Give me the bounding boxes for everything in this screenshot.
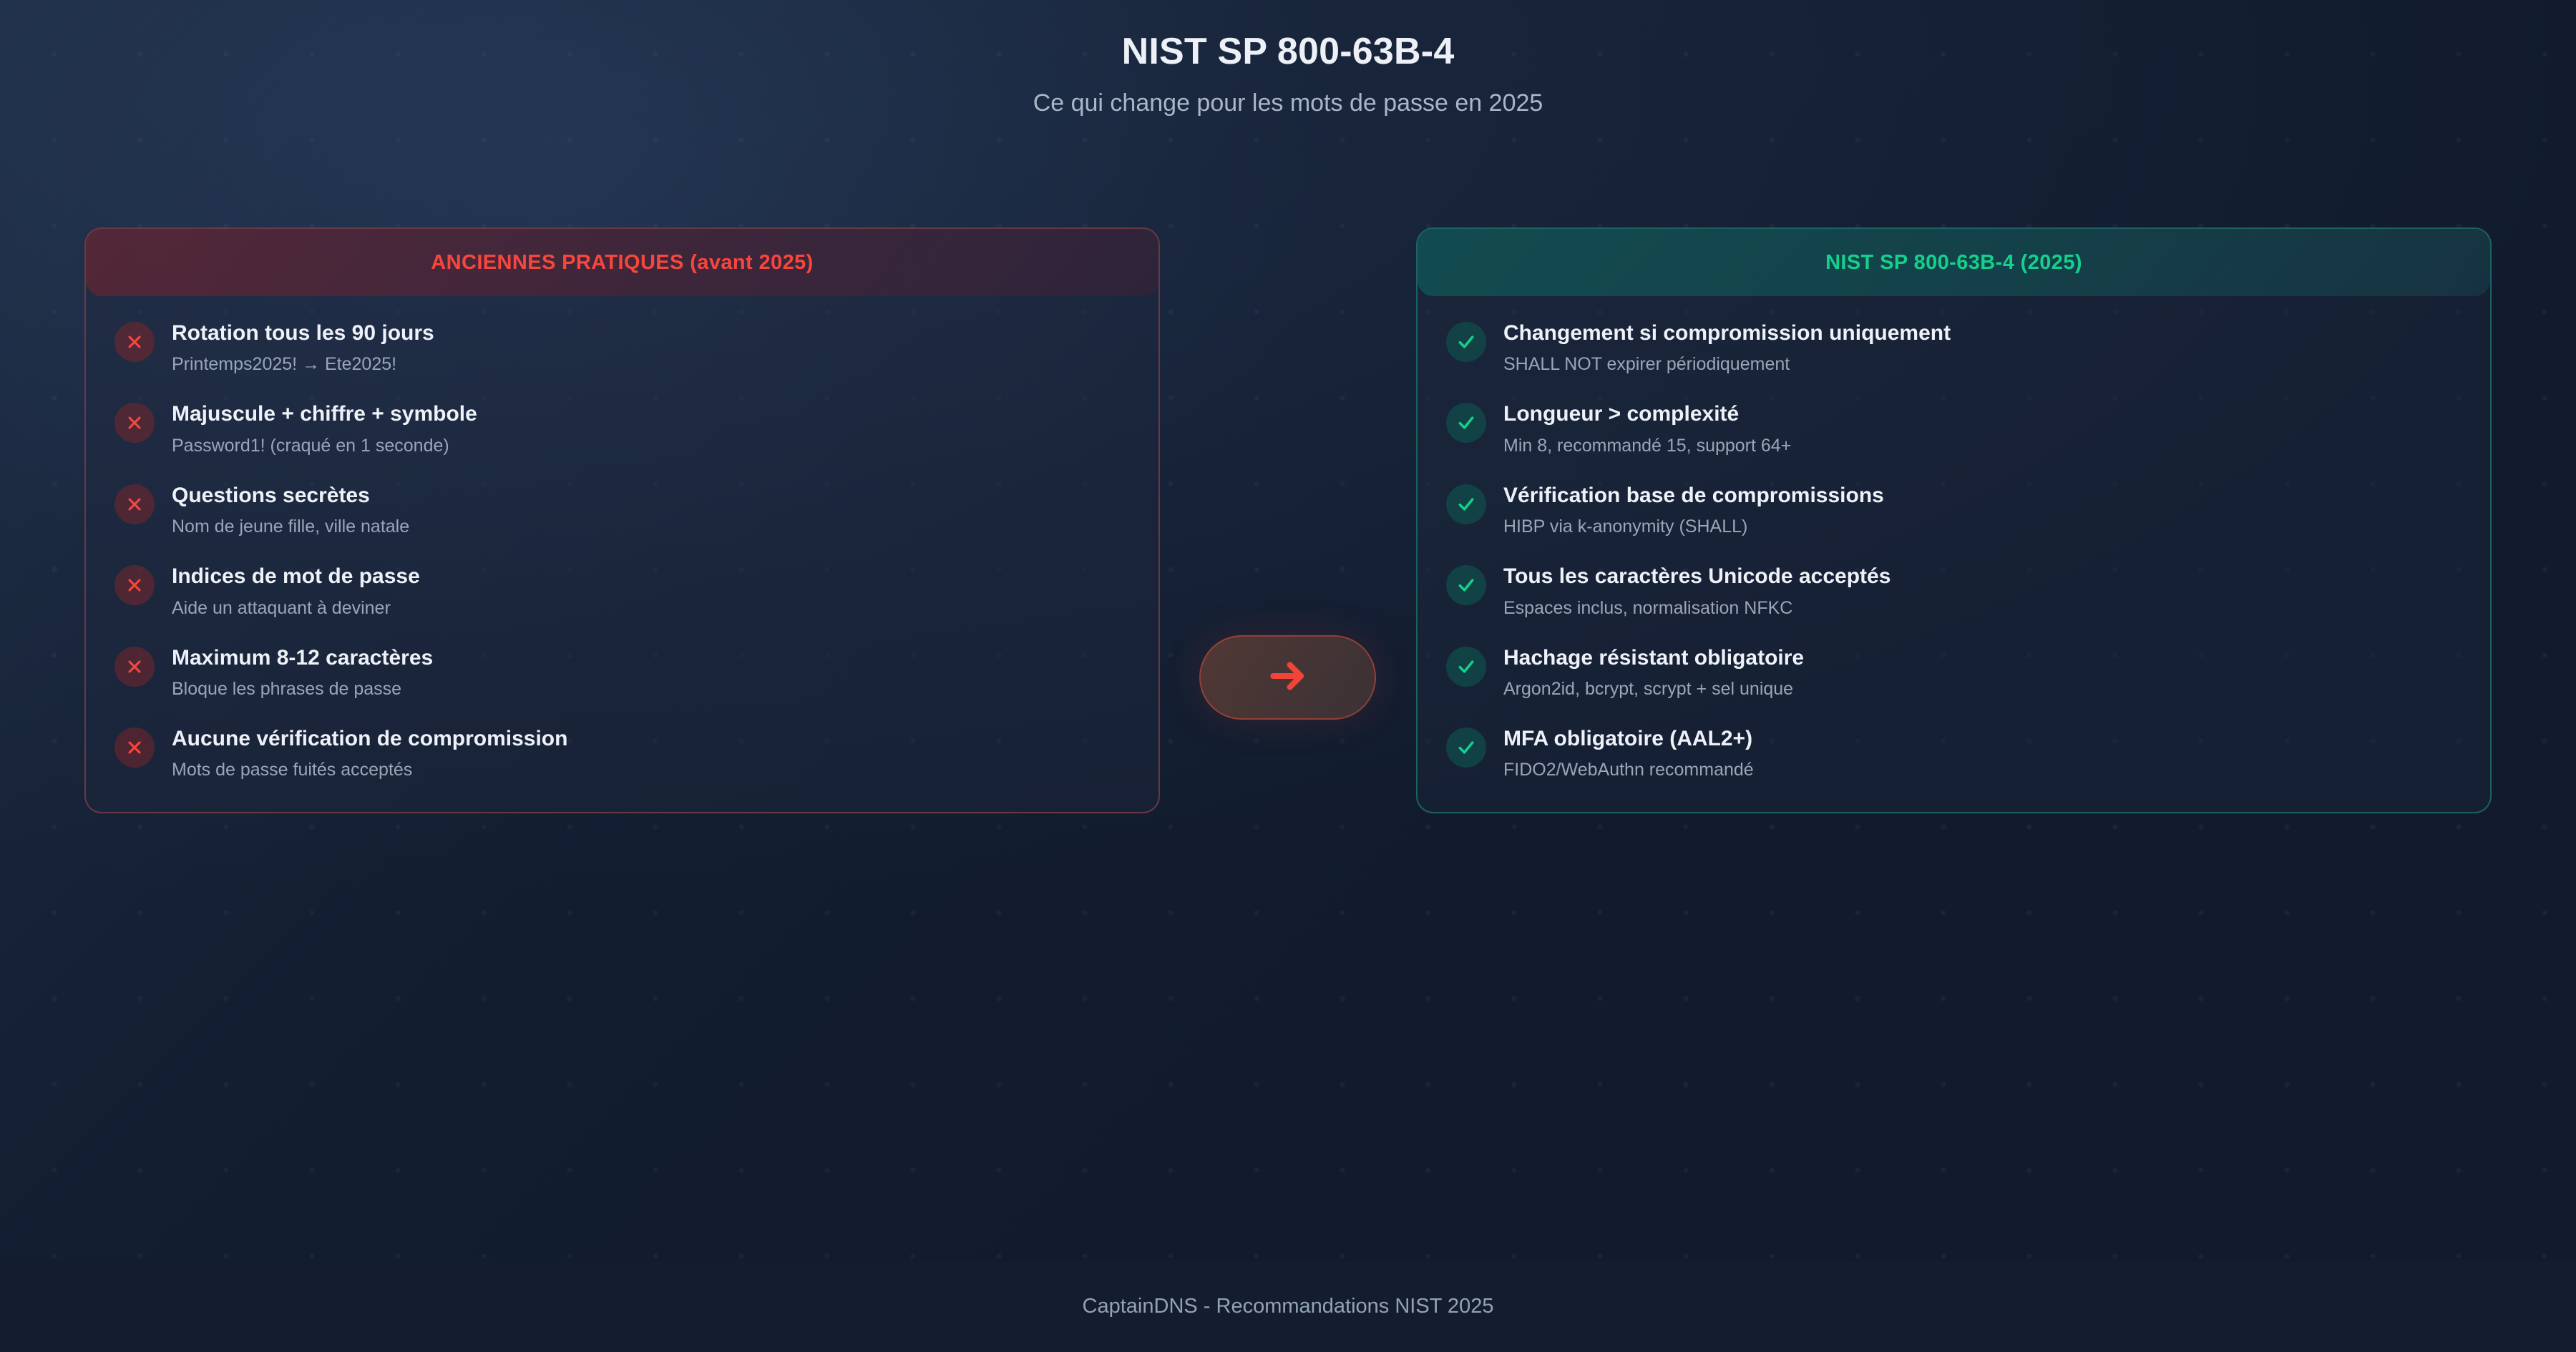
list-item: Vérification base de compromissions HIBP… xyxy=(1446,483,2462,537)
nist-2025-title: NIST SP 800-63B-4 (2025) xyxy=(1825,251,2082,275)
check-icon xyxy=(1446,484,1486,524)
list-item-detail: Mots de passe fuités acceptés xyxy=(172,759,567,780)
old-practices-header: ANCIENNES PRATIQUES (avant 2025) xyxy=(86,229,1158,296)
list-item-detail: Min 8, recommandé 15, support 64+ xyxy=(1503,435,1791,456)
nist-2025-header: NIST SP 800-63B-4 (2025) xyxy=(1418,229,2490,296)
list-item-detail: FIDO2/WebAuthn recommandé xyxy=(1503,759,1754,780)
check-icon xyxy=(1446,728,1486,768)
list-item-text: Rotation tous les 90 jours Printemps2025… xyxy=(172,320,434,375)
list-item-text: Aucune vérification de compromission Mot… xyxy=(172,726,567,780)
list-item-detail: Nom de jeune fille, ville natale xyxy=(172,516,409,537)
old-practices-list: Rotation tous les 90 jours Printemps2025… xyxy=(86,296,1158,812)
list-item-text: Majuscule + chiffre + symbole Password1!… xyxy=(172,401,477,456)
page-header: NIST SP 800-63B-4 Ce qui change pour les… xyxy=(0,30,2576,117)
cross-icon xyxy=(114,484,155,524)
list-item-title: Majuscule + chiffre + symbole xyxy=(172,401,477,426)
list-item-title: MFA obligatoire (AAL2+) xyxy=(1503,726,1754,751)
old-practices-panel: ANCIENNES PRATIQUES (avant 2025) Rotatio… xyxy=(84,227,1160,813)
list-item-text: Maximum 8-12 caractères Bloque les phras… xyxy=(172,645,433,700)
cross-icon xyxy=(114,647,155,687)
footer-text: CaptainDNS - Recommandations NIST 2025 xyxy=(1083,1295,1494,1318)
list-item: Hachage résistant obligatoire Argon2id, … xyxy=(1446,645,2462,700)
list-item-detail: SHALL NOT expirer périodiquement xyxy=(1503,353,1951,375)
list-item-text: Longueur > complexité Min 8, recommandé … xyxy=(1503,401,1791,456)
list-item-detail: Espaces inclus, normalisation NFKC xyxy=(1503,597,1890,619)
list-item-detail: Aide un attaquant à deviner xyxy=(172,597,420,619)
list-item: Questions secrètes Nom de jeune fille, v… xyxy=(114,483,1130,537)
list-item: MFA obligatoire (AAL2+) FIDO2/WebAuthn r… xyxy=(1446,726,2462,780)
cross-icon xyxy=(114,565,155,605)
list-item-title: Longueur > complexité xyxy=(1503,401,1791,426)
list-item-text: MFA obligatoire (AAL2+) FIDO2/WebAuthn r… xyxy=(1503,726,1754,780)
cross-icon xyxy=(114,403,155,443)
list-item-detail: Printemps2025! → Ete2025! xyxy=(172,353,434,375)
list-item-title: Hachage résistant obligatoire xyxy=(1503,645,1804,670)
list-item-text: Questions secrètes Nom de jeune fille, v… xyxy=(172,483,409,537)
check-icon xyxy=(1446,565,1486,605)
page-title: NIST SP 800-63B-4 xyxy=(0,30,2576,73)
list-item: Indices de mot de passe Aide un attaquan… xyxy=(114,564,1130,618)
list-item: Tous les caractères Unicode acceptés Esp… xyxy=(1446,564,2462,618)
list-item-text: Indices de mot de passe Aide un attaquan… xyxy=(172,564,420,618)
cross-icon xyxy=(114,728,155,768)
list-item: Aucune vérification de compromission Mot… xyxy=(114,726,1130,780)
cross-icon xyxy=(114,322,155,362)
arrow-right-icon xyxy=(1266,654,1310,702)
check-icon xyxy=(1446,403,1486,443)
footer: CaptainDNS - Recommandations NIST 2025 xyxy=(0,1261,2576,1352)
page-subtitle: Ce qui change pour les mots de passe en … xyxy=(0,89,2576,117)
nist-2025-list: Changement si compromission uniquement S… xyxy=(1418,296,2490,812)
list-item-title: Tous les caractères Unicode acceptés xyxy=(1503,564,1890,589)
list-item-detail: HIBP via k-anonymity (SHALL) xyxy=(1503,516,1884,537)
list-item-text: Changement si compromission uniquement S… xyxy=(1503,320,1951,375)
list-item-title: Vérification base de compromissions xyxy=(1503,483,1884,508)
list-item-text: Vérification base de compromissions HIBP… xyxy=(1503,483,1884,537)
list-item-title: Aucune vérification de compromission xyxy=(172,726,567,751)
list-item-title: Changement si compromission uniquement xyxy=(1503,320,1951,346)
check-icon xyxy=(1446,647,1486,687)
infographic-canvas: NIST SP 800-63B-4 Ce qui change pour les… xyxy=(0,0,2576,1352)
nist-2025-panel: NIST SP 800-63B-4 (2025) Changement si c… xyxy=(1416,227,2492,813)
list-item-detail: Argon2id, bcrypt, scrypt + sel unique xyxy=(1503,678,1804,700)
list-item-detail: Password1! (craqué en 1 seconde) xyxy=(172,435,477,456)
old-practices-title: ANCIENNES PRATIQUES (avant 2025) xyxy=(431,251,813,275)
list-item-detail: Bloque les phrases de passe xyxy=(172,678,433,700)
list-item-title: Maximum 8-12 caractères xyxy=(172,645,433,670)
list-item: Majuscule + chiffre + symbole Password1!… xyxy=(114,401,1130,456)
list-item-title: Questions secrètes xyxy=(172,483,409,508)
list-item: Maximum 8-12 caractères Bloque les phras… xyxy=(114,645,1130,700)
list-item-text: Tous les caractères Unicode acceptés Esp… xyxy=(1503,564,1890,618)
list-item-title: Indices de mot de passe xyxy=(172,564,420,589)
transition-badge xyxy=(1199,635,1376,720)
list-item: Changement si compromission uniquement S… xyxy=(1446,320,2462,375)
list-item: Rotation tous les 90 jours Printemps2025… xyxy=(114,320,1130,375)
list-item-title: Rotation tous les 90 jours xyxy=(172,320,434,346)
list-item: Longueur > complexité Min 8, recommandé … xyxy=(1446,401,2462,456)
check-icon xyxy=(1446,322,1486,362)
list-item-text: Hachage résistant obligatoire Argon2id, … xyxy=(1503,645,1804,700)
